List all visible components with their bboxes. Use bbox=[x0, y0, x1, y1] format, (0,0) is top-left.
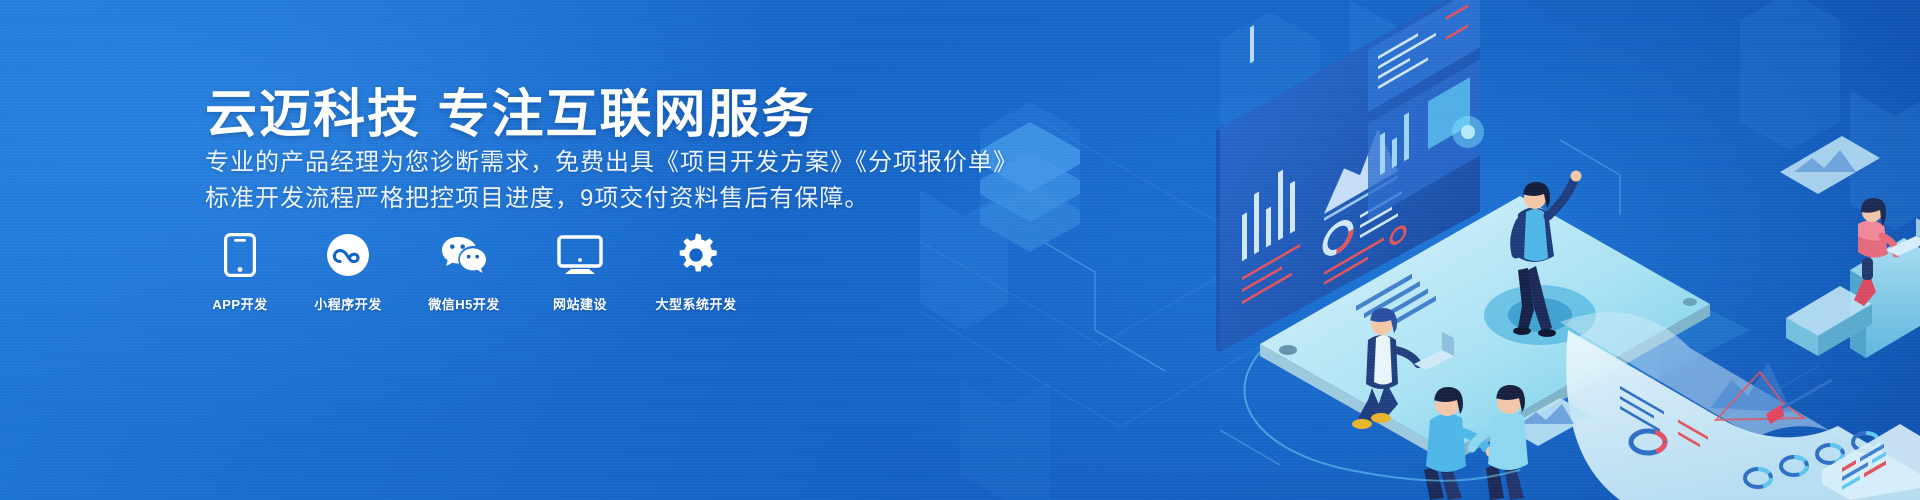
service-item-large-system[interactable]: 大型系统开发 bbox=[653, 232, 739, 313]
service-label: 网站建设 bbox=[553, 294, 607, 313]
service-item-wechat-h5[interactable]: 微信H5开发 bbox=[421, 232, 507, 313]
service-item-website[interactable]: 网站建设 bbox=[545, 232, 615, 313]
service-label: 微信H5开发 bbox=[428, 294, 500, 313]
gear-icon bbox=[673, 232, 719, 278]
monitor-icon bbox=[557, 232, 603, 278]
subtitle-line-2: 标准开发流程严格把控项目进度，9项交付资料售后有保障。 bbox=[205, 181, 1018, 217]
service-label: APP开发 bbox=[212, 294, 267, 313]
page-title: 云迈科技 专注互联网服务 bbox=[205, 72, 815, 147]
mini-program-icon bbox=[325, 232, 371, 278]
service-label: 小程序开发 bbox=[314, 294, 382, 313]
service-item-app[interactable]: APP开发 bbox=[205, 232, 275, 313]
banner-content: 云迈科技 专注互联网服务 专业的产品经理为您诊断需求，免费出具《项目开发方案》《… bbox=[0, 0, 1920, 500]
wechat-icon bbox=[441, 232, 487, 278]
service-item-mini-program[interactable]: 小程序开发 bbox=[313, 232, 383, 313]
service-label: 大型系统开发 bbox=[655, 294, 736, 313]
promo-banner: 云迈科技 专注互联网服务 专业的产品经理为您诊断需求，免费出具《项目开发方案》《… bbox=[0, 0, 1920, 500]
banner-subtitle: 专业的产品经理为您诊断需求，免费出具《项目开发方案》《分项报价单》 标准开发流程… bbox=[205, 145, 1018, 217]
service-list: APP开发 小程序开发 bbox=[205, 232, 739, 313]
mobile-phone-icon bbox=[217, 232, 263, 278]
subtitle-line-1: 专业的产品经理为您诊断需求，免费出具《项目开发方案》《分项报价单》 bbox=[205, 145, 1018, 181]
